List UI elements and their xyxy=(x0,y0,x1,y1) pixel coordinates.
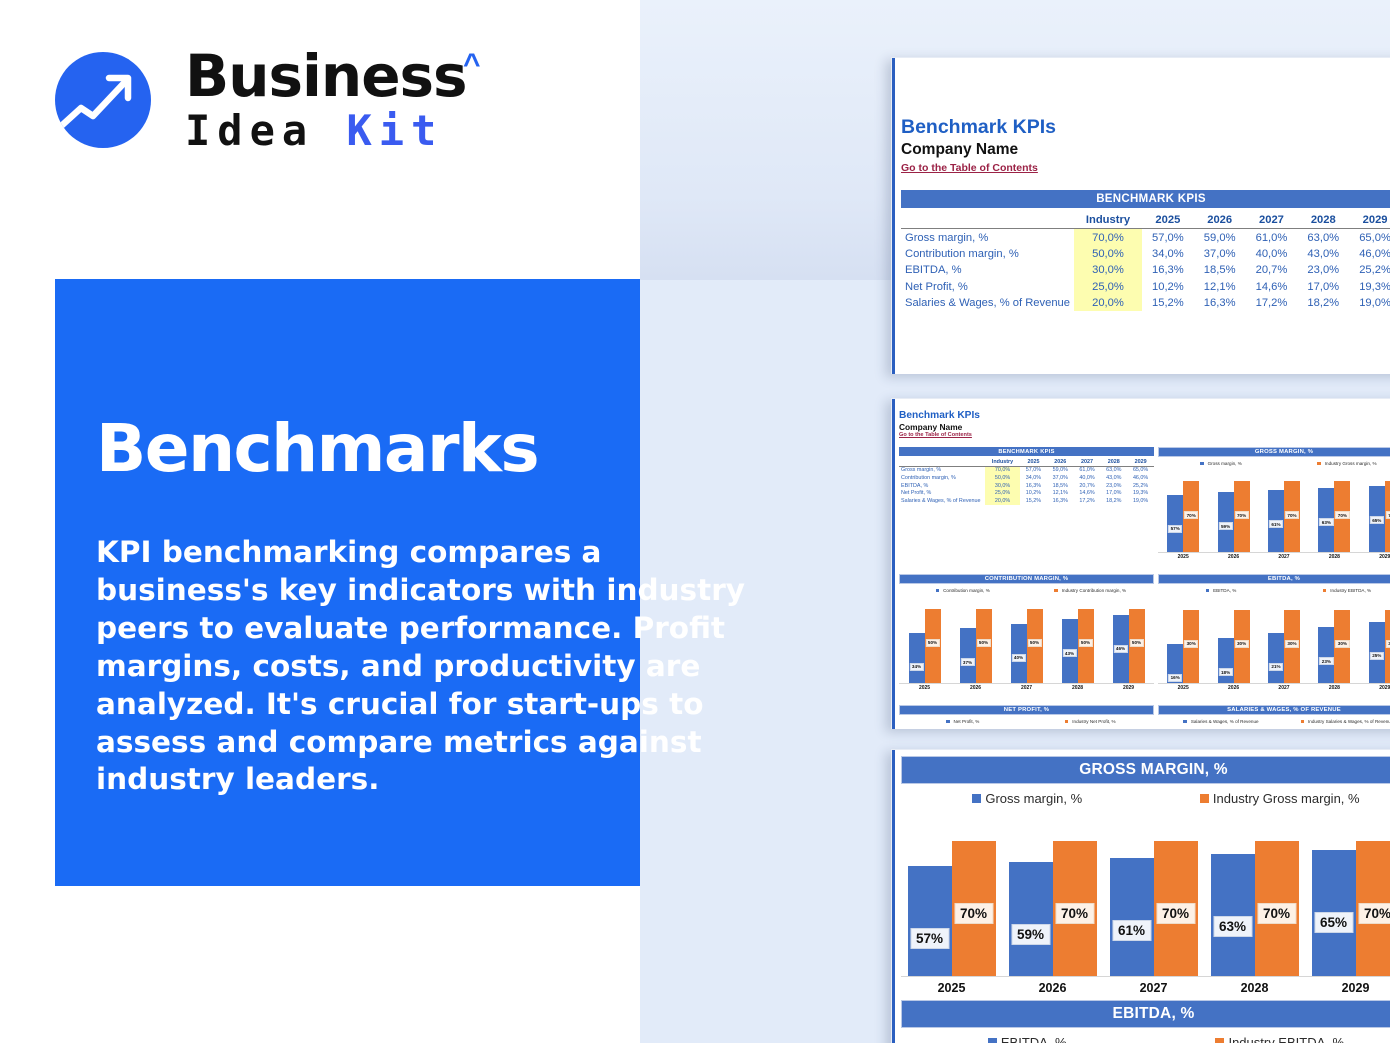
kpi-table[interactable]: Industry20252026202720282029Gross margin… xyxy=(901,212,1390,311)
row-label: EBITDA, % xyxy=(899,482,985,490)
bar-value-label: 70% xyxy=(1234,511,1248,519)
year-value-cell[interactable]: 19,3% xyxy=(1349,279,1390,295)
bar[interactable]: 57% xyxy=(1167,495,1183,553)
bar-value-label: 30% xyxy=(1386,640,1390,648)
bar-group: 57%70% xyxy=(1167,473,1199,553)
bar-value-label: 30% xyxy=(1285,640,1299,648)
bar-group: 63%70% xyxy=(1318,473,1350,553)
bar[interactable]: 65% xyxy=(1369,486,1385,553)
bar-group: 65%70% xyxy=(1369,473,1390,553)
year-value-cell[interactable]: 59,0% xyxy=(1194,229,1246,246)
bar[interactable]: 70% xyxy=(1284,481,1300,553)
chart-ebitda-large[interactable]: EBITDA, %EBITDA, %Industry EBITDA, % xyxy=(901,1000,1390,1043)
spreadsheet-card-charts[interactable]: GROSS MARGIN, %Gross margin, %Industry G… xyxy=(891,749,1390,1043)
year-value-cell[interactable]: 57,0% xyxy=(1142,229,1194,246)
x-axis-line xyxy=(1158,552,1390,553)
table-row[interactable]: Net Profit, %25,0%10,2%12,1%14,6%17,0%19… xyxy=(901,279,1390,295)
x-axis-label: 2026 xyxy=(1208,554,1258,560)
bar-group: 59%70% xyxy=(1009,825,1097,977)
year-value-cell[interactable]: 17,0% xyxy=(1100,489,1127,497)
year-value-cell[interactable]: 34,0% xyxy=(1020,474,1047,482)
legend-label: Industry Net Profit, % xyxy=(1072,719,1115,724)
bar-group: 63%70% xyxy=(1211,825,1299,977)
bar[interactable]: 70% xyxy=(1356,841,1390,977)
bar-value-label: 59% xyxy=(1218,522,1232,530)
year-value-cell[interactable]: 46,0% xyxy=(1127,474,1154,482)
bar-group: 57%70% xyxy=(908,825,996,977)
bar-value-label: 16% xyxy=(1168,674,1182,682)
legend-label: Salaries & Wages, % of Revenue xyxy=(1191,719,1259,724)
legend-item[interactable]: Gross margin, % xyxy=(1158,461,1284,466)
bar-group: 16%30% xyxy=(1167,600,1199,684)
circumflex-accent-icon: ^ xyxy=(463,48,481,82)
chart-contribution-margin-mini[interactable]: CONTRIBUTION MARGIN, %Contribution margi… xyxy=(899,574,1154,704)
bar-value-label: 50% xyxy=(925,639,939,647)
bar[interactable]: 34% xyxy=(909,633,925,684)
sheet-left-edge-accent-charts xyxy=(892,750,895,1043)
sheet-subtitle: Company Name xyxy=(901,140,1056,159)
industry-value-cell[interactable]: 25,0% xyxy=(985,489,1020,497)
bar-value-label: 30% xyxy=(1335,640,1349,648)
brand-name-secondary: Idea Kit xyxy=(185,105,467,158)
year-value-cell[interactable]: 14,6% xyxy=(1246,279,1298,295)
bar-value-label: 65% xyxy=(1314,912,1353,933)
year-value-cell[interactable]: 65,0% xyxy=(1127,466,1154,474)
bar-value-label: 59% xyxy=(1011,924,1050,945)
chart-gross-margin-large[interactable]: GROSS MARGIN, %Gross margin, %Industry G… xyxy=(901,756,1390,1006)
year-value-cell[interactable]: 65,0% xyxy=(1349,229,1390,246)
year-value-cell[interactable]: 23,0% xyxy=(1297,262,1349,278)
bar-value-label: 37% xyxy=(960,658,974,666)
chart-title: EBITDA, % xyxy=(901,1000,1390,1028)
bar[interactable]: 63% xyxy=(1211,854,1255,977)
bar-value-label: 70% xyxy=(1335,511,1349,519)
industry-value-cell[interactable]: 25,0% xyxy=(1074,279,1142,295)
year-value-cell[interactable]: 10,2% xyxy=(1020,489,1047,497)
chart-title: EBITDA, % xyxy=(1158,574,1390,584)
year-value-cell[interactable]: 16,3% xyxy=(1047,497,1074,505)
x-axis-label: 2026 xyxy=(1208,685,1258,691)
legend-item[interactable]: Industry Contribution margin, % xyxy=(1027,588,1155,593)
year-value-cell[interactable]: 19,0% xyxy=(1127,497,1154,505)
legend-label: Gross margin, % xyxy=(985,791,1082,806)
table-row[interactable]: Gross margin, %70,0%57,0%59,0%61,0%63,0%… xyxy=(899,466,1154,474)
bar-value-label: 61% xyxy=(1112,920,1151,941)
legend-label: Industry Gross margin, % xyxy=(1213,791,1360,806)
bar[interactable]: 21% xyxy=(1268,633,1284,684)
legend-item[interactable]: Industry Salaries & Wages, % of Revenue xyxy=(1284,719,1390,724)
bar-value-label: 61% xyxy=(1269,520,1283,528)
row-label: Gross margin, % xyxy=(899,466,985,474)
table-row[interactable]: EBITDA, %30,0%16,3%18,5%20,7%23,0%25,2% xyxy=(899,482,1154,490)
column-header: 2025 xyxy=(1142,212,1194,229)
table-row[interactable]: Contribution margin, %50,0%34,0%37,0%40,… xyxy=(899,474,1154,482)
legend-item[interactable]: Gross margin, % xyxy=(901,791,1154,806)
x-axis-label: 2025 xyxy=(899,685,950,691)
sheet-title-mini: Benchmark KPIs xyxy=(899,410,980,422)
column-header: 2029 xyxy=(1127,458,1154,466)
x-axis-label: 2029 xyxy=(1103,685,1154,691)
chart-title: GROSS MARGIN, % xyxy=(901,756,1390,784)
legend-swatch xyxy=(1200,462,1203,465)
year-value-cell[interactable]: 25,2% xyxy=(1127,482,1154,490)
legend-label: EBITDA, % xyxy=(1001,1035,1067,1043)
year-value-cell[interactable]: 61,0% xyxy=(1074,466,1101,474)
column-header: 2025 xyxy=(1020,458,1047,466)
year-value-cell[interactable]: 63,0% xyxy=(1297,229,1349,246)
bar-value-label: 57% xyxy=(910,928,949,949)
year-value-cell[interactable]: 16,3% xyxy=(1194,295,1246,311)
year-value-cell[interactable]: 16,3% xyxy=(1020,482,1047,490)
bar-group: 34%50% xyxy=(909,600,941,684)
growth-arrow-icon xyxy=(55,52,151,148)
legend-swatch xyxy=(972,794,981,803)
x-axis-label: 2029 xyxy=(1360,685,1390,691)
industry-value-cell[interactable]: 50,0% xyxy=(985,474,1020,482)
slide-canvas: Business Idea Kit ^ Benchmarks KPI bench… xyxy=(0,0,1390,1043)
row-label: Net Profit, % xyxy=(899,489,985,497)
bar[interactable]: 43% xyxy=(1062,619,1078,684)
year-value-cell[interactable]: 18,2% xyxy=(1297,295,1349,311)
industry-value-cell[interactable]: 30,0% xyxy=(1074,262,1142,278)
industry-value-cell[interactable]: 20,0% xyxy=(985,497,1020,505)
column-header xyxy=(901,212,1074,229)
legend-item[interactable]: EBITDA, % xyxy=(1158,588,1284,593)
year-value-cell[interactable]: 18,2% xyxy=(1100,497,1127,505)
spreadsheet-card-dashboard[interactable]: Benchmark KPIs Company Name Go to the Ta… xyxy=(891,398,1390,729)
spreadsheet-card-kpi-table[interactable]: Benchmark KPIs Company Name Go to the Ta… xyxy=(891,57,1390,374)
x-axis-label: 2025 xyxy=(901,981,1002,995)
legend-swatch xyxy=(946,720,949,723)
year-value-cell[interactable]: 15,2% xyxy=(1020,497,1047,505)
bar[interactable]: 50% xyxy=(1078,609,1094,684)
sheet-left-edge-accent xyxy=(892,58,895,374)
page-title: Benchmarks xyxy=(96,416,538,482)
column-header: 2027 xyxy=(1074,458,1101,466)
bar-value-label: 30% xyxy=(1234,640,1248,648)
x-axis-label: 2027 xyxy=(1259,685,1309,691)
legend-swatch xyxy=(1054,589,1057,592)
year-value-cell[interactable]: 20,7% xyxy=(1246,262,1298,278)
bar[interactable]: 65% xyxy=(1312,850,1356,977)
bar-value-label: 70% xyxy=(1184,511,1198,519)
chart-title: SALARIES & WAGES, % OF REVENUE xyxy=(1158,705,1390,715)
brand-name-primary: Business xyxy=(185,47,467,105)
year-value-cell[interactable]: 59,0% xyxy=(1047,466,1074,474)
legend-label: Industry Salaries & Wages, % of Revenue xyxy=(1308,719,1390,724)
bar[interactable]: 70% xyxy=(1053,841,1097,977)
bar-group: 37%50% xyxy=(960,600,992,684)
legend-swatch xyxy=(1215,1038,1224,1043)
chart-ebitda-mini[interactable]: EBITDA, %EBITDA, %Industry EBITDA, %16%3… xyxy=(1158,574,1390,704)
table-of-contents-link-mini[interactable]: Go to the Table of Contents xyxy=(899,432,980,439)
x-axis-label: 2025 xyxy=(1158,554,1208,560)
bar[interactable]: 70% xyxy=(1385,481,1390,553)
chart-plot-area: 16%30%202518%30%202621%30%202723%30%2028… xyxy=(1158,600,1390,692)
year-value-cell[interactable]: 20,7% xyxy=(1074,482,1101,490)
chart-title: CONTRIBUTION MARGIN, % xyxy=(899,574,1154,584)
bar[interactable]: 46% xyxy=(1113,615,1129,684)
legend-swatch xyxy=(936,589,939,592)
kpi-band-title-mini: BENCHMARK KPIS xyxy=(899,447,1154,456)
legend-item[interactable]: Industry EBITDA, % xyxy=(1154,1035,1390,1043)
bar-value-label: 40% xyxy=(1011,654,1025,662)
bar-value-label: 70% xyxy=(1156,903,1195,924)
bar-value-label: 34% xyxy=(909,663,923,671)
chart-plot-area: 57%70%202559%70%202661%70%202763%70%2028… xyxy=(901,825,1390,997)
chart-salaries-wages-mini[interactable]: SALARIES & WAGES, % OF REVENUESalaries &… xyxy=(1158,705,1390,729)
row-label: Contribution margin, % xyxy=(901,246,1074,262)
year-value-cell[interactable]: 12,1% xyxy=(1047,489,1074,497)
x-axis-label: 2026 xyxy=(950,685,1001,691)
bar[interactable]: 59% xyxy=(1218,492,1234,553)
bar[interactable]: 30% xyxy=(1284,610,1300,684)
column-header: 2029 xyxy=(1349,212,1390,229)
bar[interactable]: 70% xyxy=(1334,481,1350,553)
chart-title: GROSS MARGIN, % xyxy=(1158,447,1390,457)
bar-value-label: 50% xyxy=(1078,639,1092,647)
x-axis-label: 2028 xyxy=(1204,981,1305,995)
year-value-cell[interactable]: 23,0% xyxy=(1100,482,1127,490)
column-header: Industry xyxy=(1074,212,1142,229)
row-label: Gross margin, % xyxy=(901,229,1074,246)
table-row[interactable]: Gross margin, %70,0%57,0%59,0%61,0%63,0%… xyxy=(901,229,1390,246)
table-row[interactable]: EBITDA, %30,0%16,3%18,5%20,7%23,0%25,2% xyxy=(901,262,1390,278)
brand-logo: Business Idea Kit ^ xyxy=(55,47,475,167)
bar[interactable]: 16% xyxy=(1167,644,1183,684)
legend-swatch xyxy=(988,1038,997,1043)
bar[interactable]: 30% xyxy=(1183,610,1199,684)
row-label: EBITDA, % xyxy=(901,262,1074,278)
legend-item[interactable]: Industry EBITDA, % xyxy=(1284,588,1390,593)
year-value-cell[interactable]: 40,0% xyxy=(1246,246,1298,262)
bar-value-label: 18% xyxy=(1218,668,1232,676)
legend-label: Gross margin, % xyxy=(1208,461,1242,466)
bar[interactable]: 57% xyxy=(908,866,952,977)
legend-swatch xyxy=(1065,720,1068,723)
bar-value-label: 50% xyxy=(1027,639,1041,647)
chart-net-profit-mini[interactable]: NET PROFIT, %Net Profit, %Industry Net P… xyxy=(899,705,1154,729)
kpi-band-title: BENCHMARK KPIS xyxy=(901,190,1390,208)
x-axis-label: 2028 xyxy=(1052,685,1103,691)
row-label: Net Profit, % xyxy=(901,279,1074,295)
bar[interactable]: 25% xyxy=(1369,622,1385,684)
x-axis-label: 2028 xyxy=(1309,554,1359,560)
bar-group: 43%50% xyxy=(1062,600,1094,684)
year-value-cell[interactable]: 10,2% xyxy=(1142,279,1194,295)
legend-swatch xyxy=(1323,589,1326,592)
table-row[interactable]: Salaries & Wages, % of Revenue20,0%15,2%… xyxy=(899,497,1154,505)
column-header: 2026 xyxy=(1047,458,1074,466)
bar[interactable]: 30% xyxy=(1385,610,1390,684)
bar-group: 61%70% xyxy=(1110,825,1198,977)
year-value-cell[interactable]: 17,2% xyxy=(1074,497,1101,505)
x-axis-line xyxy=(1158,683,1390,684)
bar[interactable]: 70% xyxy=(1234,481,1250,553)
legend-item[interactable]: Contribution margin, % xyxy=(899,588,1027,593)
bar-value-label: 65% xyxy=(1370,516,1384,524)
bar[interactable]: 18% xyxy=(1218,638,1234,684)
legend-item[interactable]: Industry Net Profit, % xyxy=(1027,719,1155,724)
year-value-cell[interactable]: 18,5% xyxy=(1194,262,1246,278)
row-label: Contribution margin, % xyxy=(899,474,985,482)
bar[interactable]: 30% xyxy=(1234,610,1250,684)
bar-group: 23%30% xyxy=(1318,600,1350,684)
industry-value-cell[interactable]: 50,0% xyxy=(1074,246,1142,262)
industry-value-cell[interactable]: 20,0% xyxy=(1074,295,1142,311)
bar[interactable]: 70% xyxy=(1154,841,1198,977)
bar[interactable]: 63% xyxy=(1318,488,1334,553)
sheet-subtitle-mini: Company Name xyxy=(899,422,980,433)
industry-value-cell[interactable]: 70,0% xyxy=(1074,229,1142,246)
hero-panel: Benchmarks KPI benchmarking compares a b… xyxy=(55,279,640,886)
bar-group: 59%70% xyxy=(1218,473,1250,553)
brand-kit-text: Kit xyxy=(346,106,443,155)
year-value-cell[interactable]: 16,3% xyxy=(1142,262,1194,278)
column-header: 2026 xyxy=(1194,212,1246,229)
column-header: 2027 xyxy=(1246,212,1298,229)
x-axis-label: 2029 xyxy=(1360,554,1390,560)
table-header-row: Industry20252026202720282029 xyxy=(899,458,1154,466)
bar-group: 21%30% xyxy=(1268,600,1300,684)
year-value-cell[interactable]: 34,0% xyxy=(1142,246,1194,262)
bar-value-label: 63% xyxy=(1213,916,1252,937)
bar-group: 65%70% xyxy=(1312,825,1390,977)
bar[interactable]: 59% xyxy=(1009,862,1053,977)
bar-value-label: 21% xyxy=(1269,663,1283,671)
year-value-cell[interactable]: 43,0% xyxy=(1100,474,1127,482)
column-header: Industry xyxy=(985,458,1020,466)
bar[interactable]: 23% xyxy=(1318,627,1334,684)
bar-value-label: 70% xyxy=(1055,903,1094,924)
bar-value-label: 25% xyxy=(1370,652,1384,660)
sheet-title: Benchmark KPIs xyxy=(901,117,1056,138)
chart-plot-area: 34%50%202537%50%202640%50%202743%50%2028… xyxy=(899,600,1154,692)
legend-label: Industry Contribution margin, % xyxy=(1062,588,1126,593)
table-header-row: Industry20252026202720282029 xyxy=(901,212,1390,229)
x-axis-line xyxy=(899,683,1154,684)
bar[interactable]: 50% xyxy=(976,609,992,684)
bar-group: 61%70% xyxy=(1268,473,1300,553)
bar[interactable]: 30% xyxy=(1334,610,1350,684)
year-value-cell[interactable]: 37,0% xyxy=(1194,246,1246,262)
bar[interactable]: 50% xyxy=(925,609,941,684)
year-value-cell[interactable]: 37,0% xyxy=(1047,474,1074,482)
bar[interactable]: 37% xyxy=(960,628,976,684)
bar-value-label: 70% xyxy=(1257,903,1296,924)
year-value-cell[interactable]: 15,2% xyxy=(1142,295,1194,311)
year-value-cell[interactable]: 12,1% xyxy=(1194,279,1246,295)
row-label: Salaries & Wages, % of Revenue xyxy=(899,497,985,505)
year-value-cell[interactable]: 19,3% xyxy=(1127,489,1154,497)
bar-value-label: 43% xyxy=(1062,649,1076,657)
year-value-cell[interactable]: 19,0% xyxy=(1349,295,1390,311)
column-header: 2028 xyxy=(1297,212,1349,229)
year-value-cell[interactable]: 43,0% xyxy=(1297,246,1349,262)
year-value-cell[interactable]: 17,0% xyxy=(1297,279,1349,295)
bar-value-label: 23% xyxy=(1319,657,1333,665)
year-value-cell[interactable]: 17,2% xyxy=(1246,295,1298,311)
bar-value-label: 50% xyxy=(976,639,990,647)
bar[interactable]: 70% xyxy=(1255,841,1299,977)
bar-value-label: 70% xyxy=(1285,511,1299,519)
bar-value-label: 70% xyxy=(1386,511,1390,519)
legend-label: EBITDA, % xyxy=(1213,588,1236,593)
year-value-cell[interactable]: 61,0% xyxy=(1246,229,1298,246)
legend-label: Contribution margin, % xyxy=(943,588,990,593)
legend-swatch xyxy=(1183,720,1186,723)
bar[interactable]: 70% xyxy=(952,841,996,977)
column-header: 2028 xyxy=(1100,458,1127,466)
year-value-cell[interactable]: 18,5% xyxy=(1047,482,1074,490)
legend-swatch xyxy=(1317,462,1320,465)
chart-plot-area: 57%70%202559%70%202661%70%202763%70%2028… xyxy=(1158,473,1390,561)
table-row[interactable]: Net Profit, %25,0%10,2%12,1%14,6%17,0%19… xyxy=(899,489,1154,497)
bar-value-label: 50% xyxy=(1129,639,1143,647)
bar-value-label: 57% xyxy=(1168,525,1182,533)
industry-value-cell[interactable]: 30,0% xyxy=(985,482,1020,490)
legend-item[interactable]: Salaries & Wages, % of Revenue xyxy=(1158,719,1284,724)
year-value-cell[interactable]: 63,0% xyxy=(1100,466,1127,474)
industry-value-cell[interactable]: 70,0% xyxy=(985,466,1020,474)
year-value-cell[interactable]: 25,2% xyxy=(1349,262,1390,278)
bar-value-label: 30% xyxy=(1184,640,1198,648)
table-row[interactable]: Contribution margin, %50,0%34,0%37,0%40,… xyxy=(901,246,1390,262)
legend-swatch xyxy=(1200,794,1209,803)
bar[interactable]: 50% xyxy=(1027,609,1043,684)
bar-value-label: 46% xyxy=(1113,645,1127,653)
bar-group: 40%50% xyxy=(1011,600,1043,684)
x-axis-label: 2025 xyxy=(1158,685,1208,691)
legend-item[interactable]: EBITDA, % xyxy=(901,1035,1154,1043)
year-value-cell[interactable]: 46,0% xyxy=(1349,246,1390,262)
x-axis-label: 2027 xyxy=(1103,981,1204,995)
bar[interactable]: 40% xyxy=(1011,624,1027,684)
bar-value-label: 70% xyxy=(1358,903,1390,924)
bar-value-label: 63% xyxy=(1319,518,1333,526)
bar-group: 18%30% xyxy=(1218,600,1250,684)
year-value-cell[interactable]: 14,6% xyxy=(1074,489,1101,497)
table-of-contents-link[interactable]: Go to the Table of Contents xyxy=(901,162,1056,176)
row-label: Salaries & Wages, % of Revenue xyxy=(901,295,1074,311)
bar-group: 46%50% xyxy=(1113,600,1145,684)
legend-label: Industry EBITDA, % xyxy=(1228,1035,1344,1043)
legend-label: Net Profit, % xyxy=(954,719,980,724)
sheet-left-edge-accent-mini xyxy=(892,399,895,729)
legend-label: Industry Gross margin, % xyxy=(1325,461,1377,466)
x-axis-label: 2029 xyxy=(1305,981,1390,995)
bar[interactable]: 70% xyxy=(1183,481,1199,553)
brand-idea-text: Idea xyxy=(185,106,346,155)
year-value-cell[interactable]: 40,0% xyxy=(1074,474,1101,482)
legend-swatch xyxy=(1206,589,1209,592)
bar[interactable]: 61% xyxy=(1110,858,1154,977)
bar[interactable]: 50% xyxy=(1129,609,1145,684)
x-axis-label: 2027 xyxy=(1259,554,1309,560)
kpi-table-mini[interactable]: Industry20252026202720282029Gross margin… xyxy=(899,458,1154,505)
legend-item[interactable]: Net Profit, % xyxy=(899,719,1027,724)
bar-group: 25%30% xyxy=(1369,600,1390,684)
chart-gross-margin-mini[interactable]: GROSS MARGIN, %Gross margin, %Industry G… xyxy=(1158,447,1390,573)
bar[interactable]: 61% xyxy=(1268,490,1284,553)
legend-label: Industry EBITDA, % xyxy=(1330,588,1371,593)
legend-item[interactable]: Industry Gross margin, % xyxy=(1284,461,1390,466)
column-header xyxy=(899,458,985,466)
year-value-cell[interactable]: 57,0% xyxy=(1020,466,1047,474)
x-axis-label: 2028 xyxy=(1309,685,1359,691)
table-row[interactable]: Salaries & Wages, % of Revenue20,0%15,2%… xyxy=(901,295,1390,311)
legend-item[interactable]: Industry Gross margin, % xyxy=(1154,791,1390,806)
